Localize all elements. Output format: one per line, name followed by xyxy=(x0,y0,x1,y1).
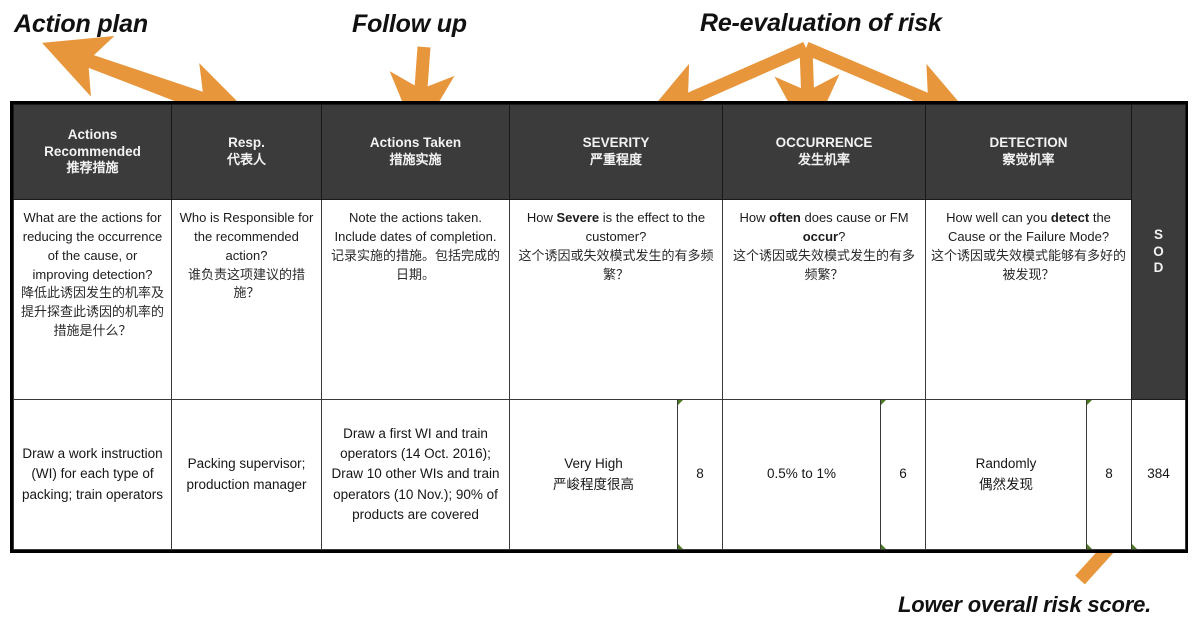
annotation-action-plan: Action plan xyxy=(14,10,148,39)
header-line1: OCCURRENCE xyxy=(728,135,920,152)
header-severity[interactable]: SEVERITY 严重程度 xyxy=(510,105,723,200)
desc-cn: 这个诱因或失效模式能够有多好的被发现？ xyxy=(931,247,1126,285)
header-cn: 代表人 xyxy=(227,152,266,167)
header-line1: DETECTION xyxy=(931,135,1126,152)
table-header-row: Actions Recommended 推荐措施 Resp. 代表人 Actio… xyxy=(14,105,1186,200)
comment-flag-icon xyxy=(881,544,886,549)
desc-cn: 记录实施的措施。包括完成的日期。 xyxy=(327,247,504,285)
arrow-re-evaluation xyxy=(676,48,940,105)
cell-severity-score[interactable]: 8 xyxy=(678,400,723,550)
header-detection[interactable]: DETECTION 察觉机率 xyxy=(926,105,1132,200)
table-data-row: Draw a work instruction (WI) for each ty… xyxy=(14,400,1186,550)
desc-en: How well can you detect the Cause or the… xyxy=(931,209,1126,247)
severity-score-value: 8 xyxy=(696,466,704,481)
comment-flag-icon xyxy=(1087,400,1092,405)
header-line1: Resp. xyxy=(177,135,316,152)
desc-en: How Severe is the effect to the customer… xyxy=(515,209,717,247)
table-description-row: What are the actions for reducing the oc… xyxy=(14,200,1186,400)
header-sod-column[interactable]: S O D xyxy=(1132,105,1186,400)
sod-letter-d: D xyxy=(1137,260,1180,277)
arrow-action-plan xyxy=(76,56,216,107)
header-cn: 严重程度 xyxy=(590,152,642,167)
fmea-table-container: Actions Recommended 推荐措施 Resp. 代表人 Actio… xyxy=(10,101,1188,553)
desc-en: What are the actions for reducing the oc… xyxy=(19,209,166,284)
severity-label-cn: 严峻程度很高 xyxy=(515,475,672,495)
desc-detection: How well can you detect the Cause or the… xyxy=(926,200,1132,400)
comment-flag-icon xyxy=(881,400,886,405)
sod-letters: S O D xyxy=(1137,227,1180,278)
cell-severity-label[interactable]: Very High 严峻程度很高 xyxy=(510,400,678,550)
cell-occurrence-label[interactable]: 0.5% to 1% xyxy=(723,400,881,550)
detection-label-cn: 偶然发现 xyxy=(931,475,1081,495)
sod-letter-s: S xyxy=(1137,227,1180,244)
desc-en: Who is Responsible for the recommended a… xyxy=(177,209,316,266)
cell-actions-recommended[interactable]: Draw a work instruction (WI) for each ty… xyxy=(14,400,172,550)
occurrence-score-value: 6 xyxy=(899,466,907,481)
desc-resp: Who is Responsible for the recommended a… xyxy=(172,200,322,400)
desc-actions-taken: Note the actions taken. Include dates of… xyxy=(322,200,510,400)
cell-detection-score[interactable]: 8 xyxy=(1087,400,1132,550)
arrow-follow-up xyxy=(420,47,424,102)
cell-actions-taken[interactable]: Draw a first WI and train operators (14 … xyxy=(322,400,510,550)
header-cn: 察觉机率 xyxy=(1003,152,1055,167)
header-line1: SEVERITY xyxy=(515,135,717,152)
desc-en: Note the actions taken. Include dates of… xyxy=(327,209,504,247)
cell-occurrence-score[interactable]: 6 xyxy=(881,400,926,550)
detection-label-en: Randomly xyxy=(931,454,1081,474)
header-line1: Actions Taken xyxy=(327,135,504,152)
desc-occurrence: How often does cause or FM occur? 这个诱因或失… xyxy=(723,200,926,400)
sod-letter-o: O xyxy=(1137,244,1180,261)
desc-cn: 降低此诱因发生的机率及提升探查此诱因的机率的措施是什么？ xyxy=(19,284,166,341)
header-actions-recommended[interactable]: Actions Recommended 推荐措施 xyxy=(14,105,172,200)
annotation-follow-up: Follow up xyxy=(352,10,467,39)
desc-cn: 这个诱因或失效模式发生的有多频繁？ xyxy=(515,247,717,285)
header-cn: 措施实施 xyxy=(389,152,441,167)
header-resp[interactable]: Resp. 代表人 xyxy=(172,105,322,200)
header-actions-taken[interactable]: Actions Taken 措施实施 xyxy=(322,105,510,200)
header-occurrence[interactable]: OCCURRENCE 发生机率 xyxy=(723,105,926,200)
annotation-lower-overall-risk-score: Lower overall risk score. xyxy=(898,592,1151,618)
header-line2: Recommended xyxy=(19,144,166,161)
comment-flag-icon xyxy=(1132,544,1137,549)
desc-severity: How Severe is the effect to the customer… xyxy=(510,200,723,400)
desc-cn: 谁负责这项建议的措施？ xyxy=(177,266,316,304)
header-cn: 推荐措施 xyxy=(66,160,118,175)
desc-en: How often does cause or FM occur? xyxy=(728,209,920,247)
header-line1: Actions xyxy=(19,127,166,144)
occurrence-label-en: 0.5% to 1% xyxy=(728,464,875,484)
desc-actions-recommended: What are the actions for reducing the oc… xyxy=(14,200,172,400)
comment-flag-icon xyxy=(1087,544,1092,549)
cell-detection-label[interactable]: Randomly 偶然发现 xyxy=(926,400,1087,550)
annotation-re-evaluation-of-risk: Re-evaluation of risk xyxy=(700,9,942,38)
comment-flag-icon xyxy=(678,544,683,549)
detection-score-value: 8 xyxy=(1105,466,1113,481)
fmea-table: Actions Recommended 推荐措施 Resp. 代表人 Actio… xyxy=(13,104,1186,550)
rpn-value: 384 xyxy=(1147,466,1170,481)
desc-cn: 这个诱因或失效模式发生的有多频繁？ xyxy=(728,247,920,285)
severity-label-en: Very High xyxy=(515,454,672,474)
cell-rpn-score[interactable]: 384 xyxy=(1132,400,1186,550)
comment-flag-icon xyxy=(678,400,683,405)
cell-responsible[interactable]: Packing supervisor; production manager xyxy=(172,400,322,550)
header-cn: 发生机率 xyxy=(798,152,850,167)
